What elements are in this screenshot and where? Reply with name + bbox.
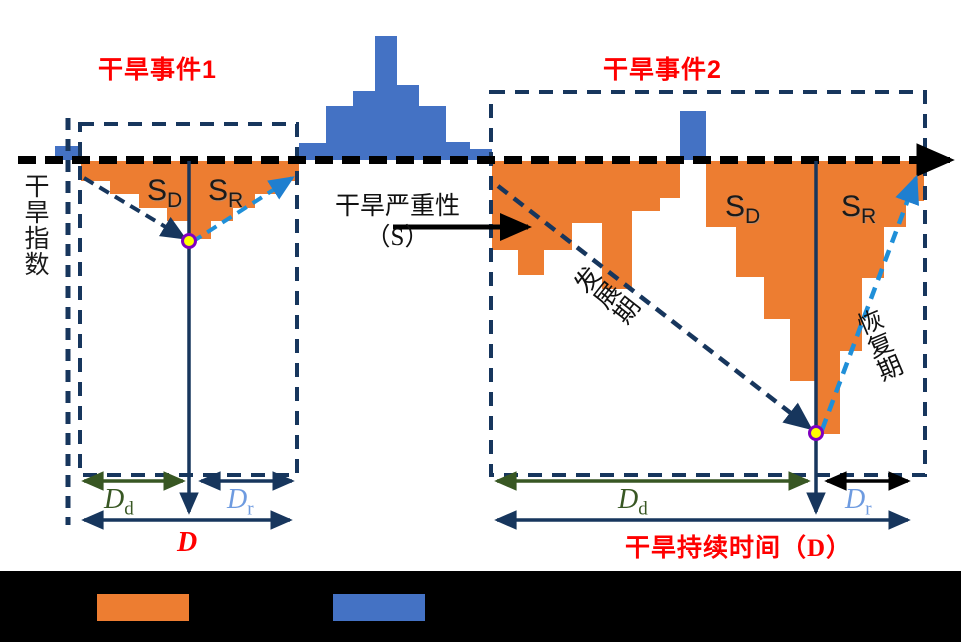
bar-positive xyxy=(397,85,419,160)
event2-sd-text: S xyxy=(725,190,745,223)
event2-dd-sub: d xyxy=(638,499,648,520)
bar-drought xyxy=(544,161,572,250)
event1-sd-label: SD xyxy=(147,174,182,213)
bar-drought xyxy=(632,161,660,211)
bar-positive xyxy=(326,106,353,160)
severity-annotation: 干旱严重性 （S） xyxy=(335,192,460,253)
bar-positive xyxy=(375,36,397,160)
event2-sr-sub: R xyxy=(861,205,876,228)
event2-dd-label: Dd xyxy=(618,484,648,521)
bar-positive xyxy=(353,91,375,160)
event2-dr-sub: r xyxy=(865,499,871,520)
diagram-canvas: 干旱事件1 干旱事件2 干旱指数 干旱严重性 （S） SD SR SD SR D… xyxy=(0,0,961,642)
bar-drought xyxy=(764,161,790,319)
bar-drought xyxy=(790,161,816,381)
event2-dd-text: D xyxy=(618,484,638,515)
event1-title: 干旱事件1 xyxy=(98,50,217,86)
event2-dr-label: Dr xyxy=(845,484,872,521)
event2-minimum-point xyxy=(810,427,823,440)
event2-title: 干旱事件2 xyxy=(603,50,722,86)
event1-sr-sub: R xyxy=(228,189,243,212)
y-axis-label: 干旱指数 xyxy=(16,173,52,277)
event1-dd-text: D xyxy=(104,484,124,515)
legend-orange-swatch xyxy=(97,594,189,621)
event2-sr-text: S xyxy=(841,190,861,223)
bar-positive xyxy=(680,111,706,160)
event2-sr-label: SR xyxy=(841,190,876,229)
event2-dr-text: D xyxy=(845,484,865,515)
event1-sd-text: S xyxy=(147,174,167,207)
legend-blue-swatch xyxy=(333,594,425,621)
event2-sd-label: SD xyxy=(725,190,760,229)
event1-duration-label: D xyxy=(177,527,197,559)
event2-duration-label: 干旱持续时间（D） xyxy=(625,528,852,564)
severity-line-1: 干旱严重性 xyxy=(335,192,460,223)
event1-minimum-point xyxy=(183,235,196,248)
event1-sr-label: SR xyxy=(208,174,243,213)
bar-drought xyxy=(602,161,632,289)
event1-dr-sub: r xyxy=(247,499,253,520)
event1-dd-sub: d xyxy=(124,499,134,520)
bar-drought xyxy=(817,161,840,434)
event1-sr-text: S xyxy=(208,174,228,207)
bar-drought xyxy=(492,161,518,250)
event2-sd-sub: D xyxy=(745,205,760,228)
bar-drought xyxy=(518,161,544,275)
bar-positive xyxy=(419,106,446,160)
bar-drought xyxy=(660,161,680,198)
bar-drought xyxy=(110,161,139,194)
event1-dd-label: Dd xyxy=(104,484,134,521)
event1-dr-label: Dr xyxy=(227,484,254,521)
severity-line-2: （S） xyxy=(335,223,460,254)
event1-sd-sub: D xyxy=(167,189,182,212)
bar-drought xyxy=(572,161,602,223)
event1-dr-text: D xyxy=(227,484,247,515)
